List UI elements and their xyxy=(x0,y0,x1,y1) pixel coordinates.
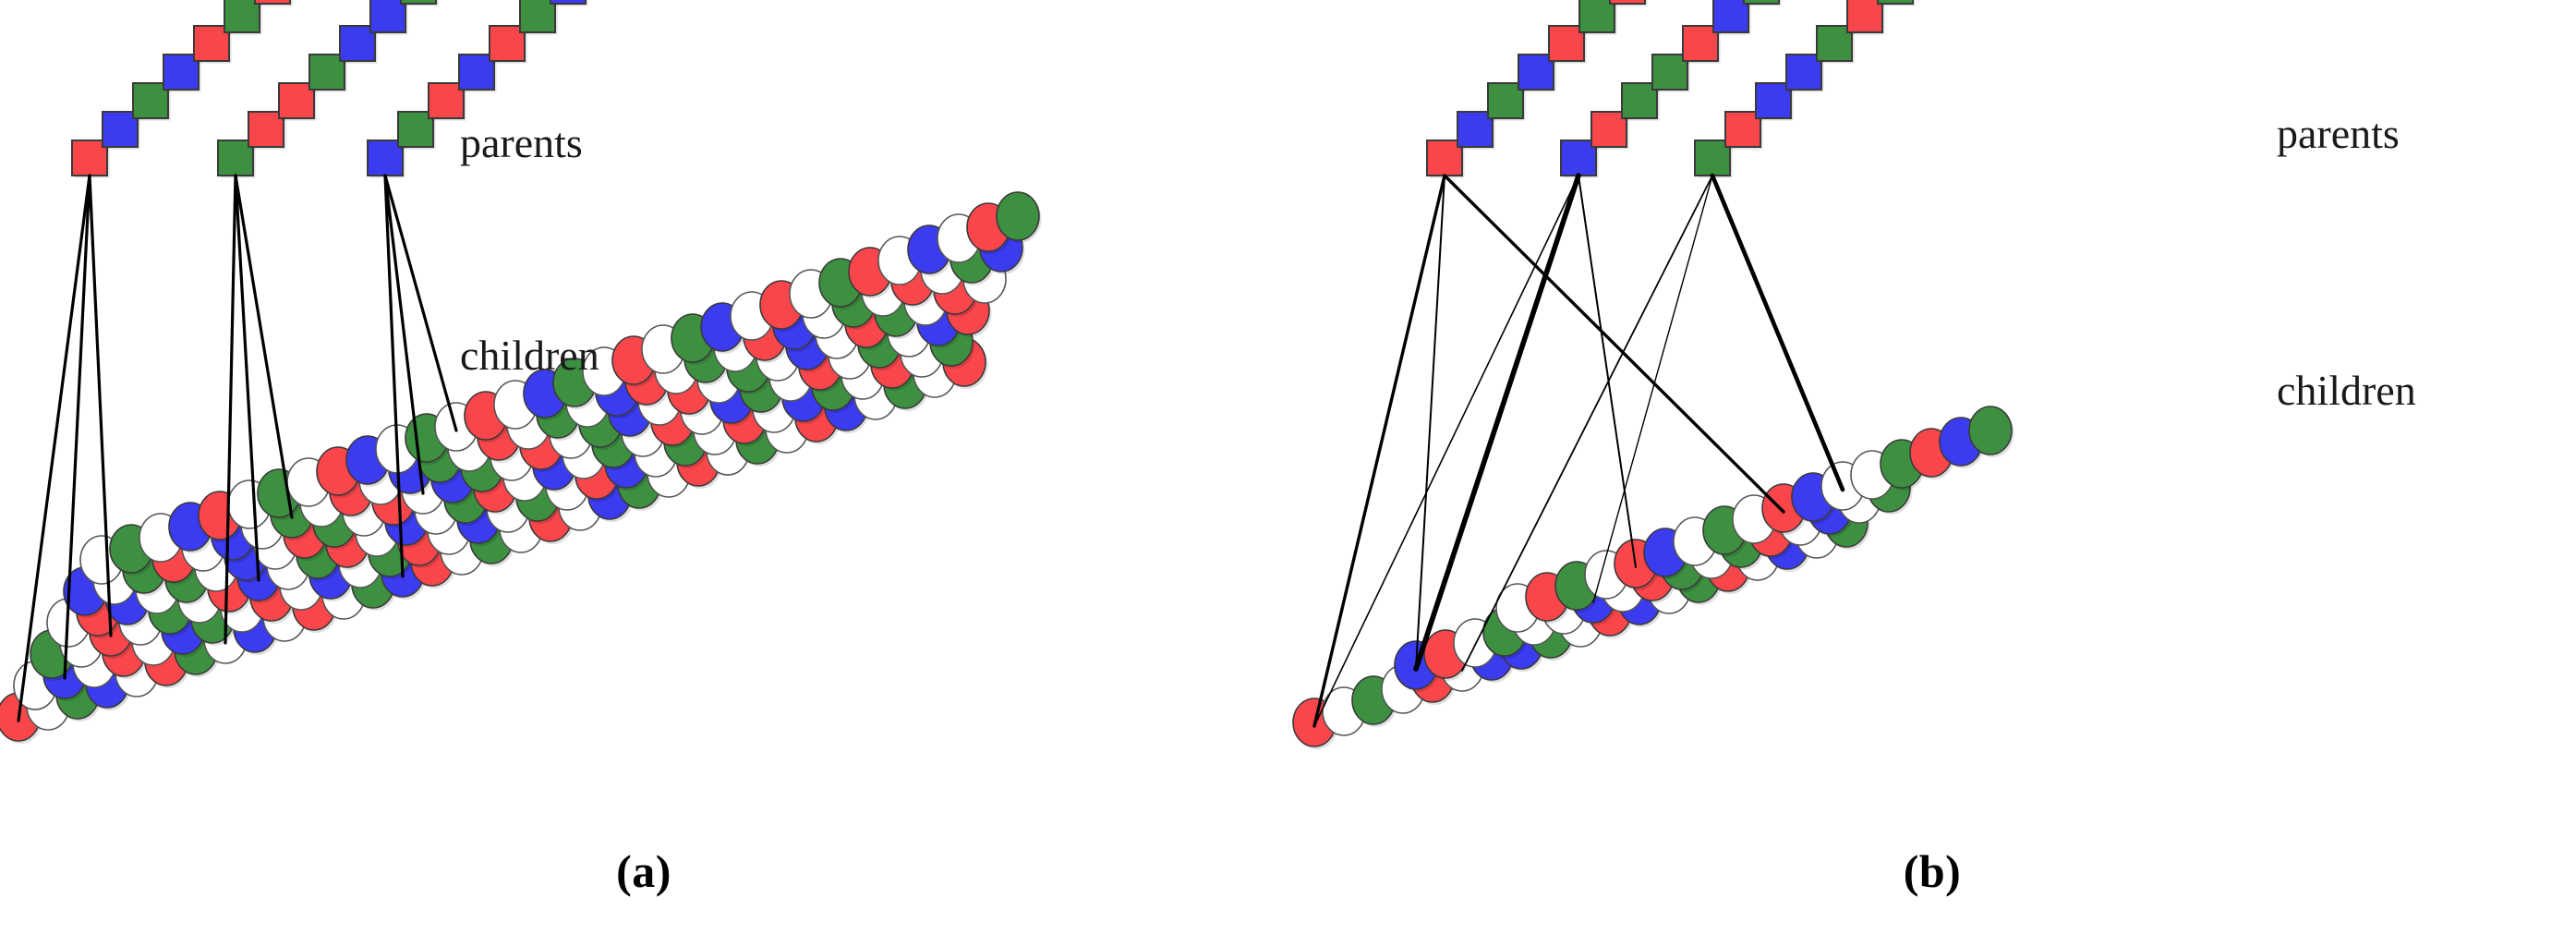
figure-root: parentschildren (a) parentschildren (b) xyxy=(0,0,2576,946)
parent-gene-square xyxy=(255,0,290,4)
parent-gene-square xyxy=(224,0,260,32)
section-label: children xyxy=(460,332,599,379)
parent-gene-square xyxy=(1847,0,1882,32)
parent-gene-square xyxy=(1744,0,1779,4)
inheritance-edge xyxy=(1578,176,1636,567)
panel-a: parentschildren (a) xyxy=(0,0,1288,946)
panel-a-canvas: parentschildren xyxy=(0,0,1288,946)
panel-b-caption: (b) xyxy=(1288,844,2576,898)
parent-gene-square xyxy=(401,0,436,4)
parent-gene-square xyxy=(520,0,555,32)
section-label: parents xyxy=(460,119,583,166)
parent-gene-square xyxy=(1713,0,1748,32)
section-label: children xyxy=(2277,367,2416,414)
child-gene-circle xyxy=(997,192,1039,240)
parent-gene-square xyxy=(550,0,586,4)
child-row xyxy=(1496,406,2014,632)
section-label: parents xyxy=(2277,110,2400,157)
parent-gene-square xyxy=(370,0,405,32)
panel-b: parentschildren (b) xyxy=(1288,0,2576,946)
child-gene-circle xyxy=(1969,406,2012,455)
panel-a-caption: (a) xyxy=(0,844,1288,898)
parent-gene-square xyxy=(1878,0,1913,4)
parent-gene-square xyxy=(1579,0,1615,32)
panel-b-canvas: parentschildren xyxy=(1288,0,2576,946)
inheritance-edge xyxy=(1712,176,1843,490)
parent-gene-square xyxy=(1610,0,1645,4)
